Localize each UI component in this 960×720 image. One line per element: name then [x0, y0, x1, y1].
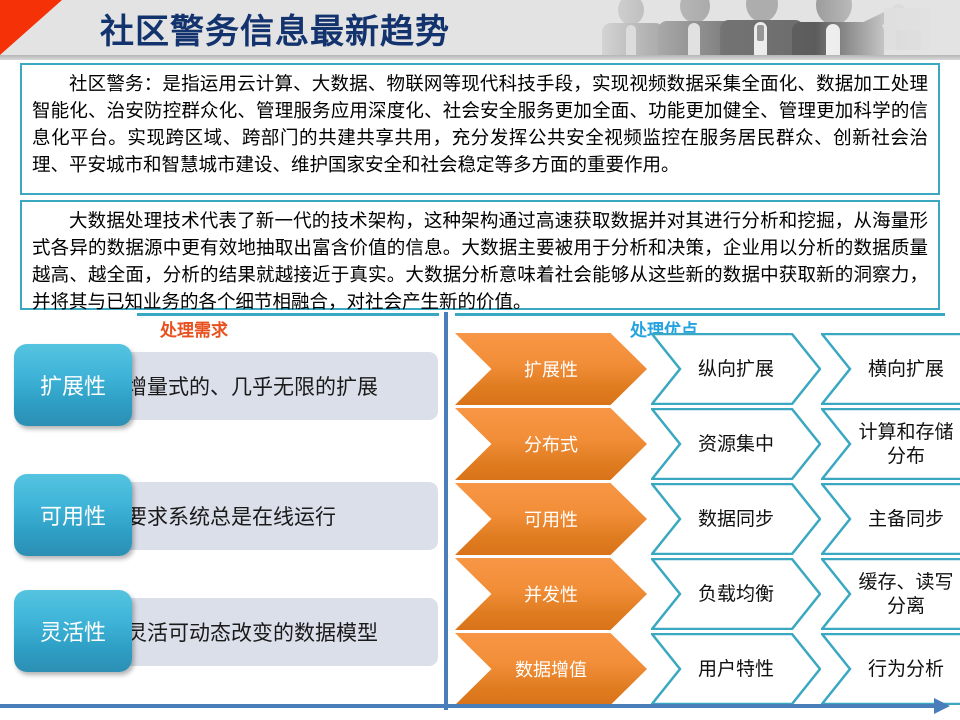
- advantage-step2: 行为分析: [864, 657, 948, 681]
- advantage-label-chevron[interactable]: 扩展性: [455, 333, 647, 405]
- intro-paragraph: 社区警务：是指运用云计算、大数据、物联网等现代科技手段，实现视频数据采集全面化、…: [32, 71, 928, 179]
- timeline-arrow-line: [0, 704, 938, 708]
- bigdata-textbox: 大数据处理技术代表了新一代的技术架构，这种架构通过高速获取数据并对其进行分析和挖…: [20, 200, 940, 310]
- requirement-detail-panel: 增量式的、几乎无限的扩展: [92, 352, 438, 420]
- header-photo: [580, 0, 960, 55]
- requirement-chip[interactable]: 可用性: [14, 474, 132, 556]
- advantage-step2: 主备同步: [864, 507, 948, 531]
- advantage-label: 扩展性: [520, 356, 582, 382]
- advantage-row: 分布式 资源集中 计算和存储分布: [455, 408, 955, 480]
- requirement-detail-panel: 灵活可动态改变的数据模型: [92, 598, 438, 666]
- advantage-step2: 缓存、读写分离: [854, 570, 958, 618]
- requirement-row[interactable]: 要求系统总是在线运行 可用性: [14, 474, 438, 556]
- advantage-step2-chevron[interactable]: 横向扩展: [821, 333, 960, 405]
- advantage-step2-chevron[interactable]: 主备同步: [821, 483, 960, 555]
- requirement-detail: 灵活可动态改变的数据模型: [126, 617, 378, 647]
- advantages-chevron-grid: 扩展性 纵向扩展 横向扩展 分布式 资源集中 计算和存储分布 可用性 数据同步: [455, 333, 955, 705]
- advantage-label: 数据增值: [511, 656, 591, 682]
- requirement-detail-panel: 要求系统总是在线运行: [92, 482, 438, 550]
- advantage-step2-chevron[interactable]: 缓存、读写分离: [821, 558, 960, 630]
- requirement-row[interactable]: 增量式的、几乎无限的扩展 扩展性: [14, 344, 438, 426]
- advantage-step2: 横向扩展: [864, 357, 948, 381]
- intro-textbox: 社区警务：是指运用云计算、大数据、物联网等现代科技手段，实现视频数据采集全面化、…: [20, 63, 940, 195]
- advantage-step2: 计算和存储分布: [854, 420, 958, 468]
- slide-header: 社区警务信息最新趋势: [0, 0, 960, 55]
- timeline-arrow-head-icon: [934, 698, 950, 714]
- advantage-step1: 用户特性: [694, 657, 778, 681]
- advantage-step1-chevron[interactable]: 用户特性: [651, 633, 821, 705]
- requirement-detail: 增量式的、几乎无限的扩展: [126, 371, 378, 401]
- advantage-step1-chevron[interactable]: 资源集中: [651, 408, 821, 480]
- advantage-row: 扩展性 纵向扩展 横向扩展: [455, 333, 955, 405]
- advantage-row: 数据增值 用户特性 行为分析: [455, 633, 955, 705]
- advantage-step1-chevron[interactable]: 负载均衡: [651, 558, 821, 630]
- advantage-label: 并发性: [520, 581, 582, 607]
- page-title: 社区警务信息最新趋势: [100, 4, 450, 53]
- advantage-step1: 纵向扩展: [694, 357, 778, 381]
- advantage-label: 可用性: [520, 506, 582, 532]
- advantage-label-chevron[interactable]: 并发性: [455, 558, 647, 630]
- advantage-step1-chevron[interactable]: 数据同步: [651, 483, 821, 555]
- requirement-chip[interactable]: 扩展性: [14, 344, 132, 426]
- requirement-detail: 要求系统总是在线运行: [126, 501, 336, 531]
- left-section-title: 处理需求: [160, 316, 228, 341]
- advantage-step1: 数据同步: [694, 507, 778, 531]
- advantage-label-chevron[interactable]: 分布式: [455, 408, 647, 480]
- advantage-step1: 负载均衡: [694, 582, 778, 606]
- advantage-step2-chevron[interactable]: 行为分析: [821, 633, 960, 705]
- advantage-row: 可用性 数据同步 主备同步: [455, 483, 955, 555]
- bigdata-paragraph: 大数据处理技术代表了新一代的技术架构，这种架构通过高速获取数据并对其进行分析和挖…: [32, 208, 928, 316]
- advantage-row: 并发性 负载均衡 缓存、读写分离: [455, 558, 955, 630]
- advantage-label-chevron[interactable]: 数据增值: [455, 633, 647, 705]
- advantage-label: 分布式: [520, 431, 582, 457]
- advantage-step1: 资源集中: [694, 432, 778, 456]
- advantage-step1-chevron[interactable]: 纵向扩展: [651, 333, 821, 405]
- advantage-step2-chevron[interactable]: 计算和存储分布: [821, 408, 960, 480]
- header-divider: [0, 55, 960, 60]
- requirement-row[interactable]: 灵活可动态改变的数据模型 灵活性: [14, 590, 438, 672]
- right-section-rule: [455, 313, 945, 316]
- requirement-chip[interactable]: 灵活性: [14, 590, 132, 672]
- header-red-accent: [0, 0, 62, 55]
- vertical-divider: [444, 312, 448, 710]
- advantage-label-chevron[interactable]: 可用性: [455, 483, 647, 555]
